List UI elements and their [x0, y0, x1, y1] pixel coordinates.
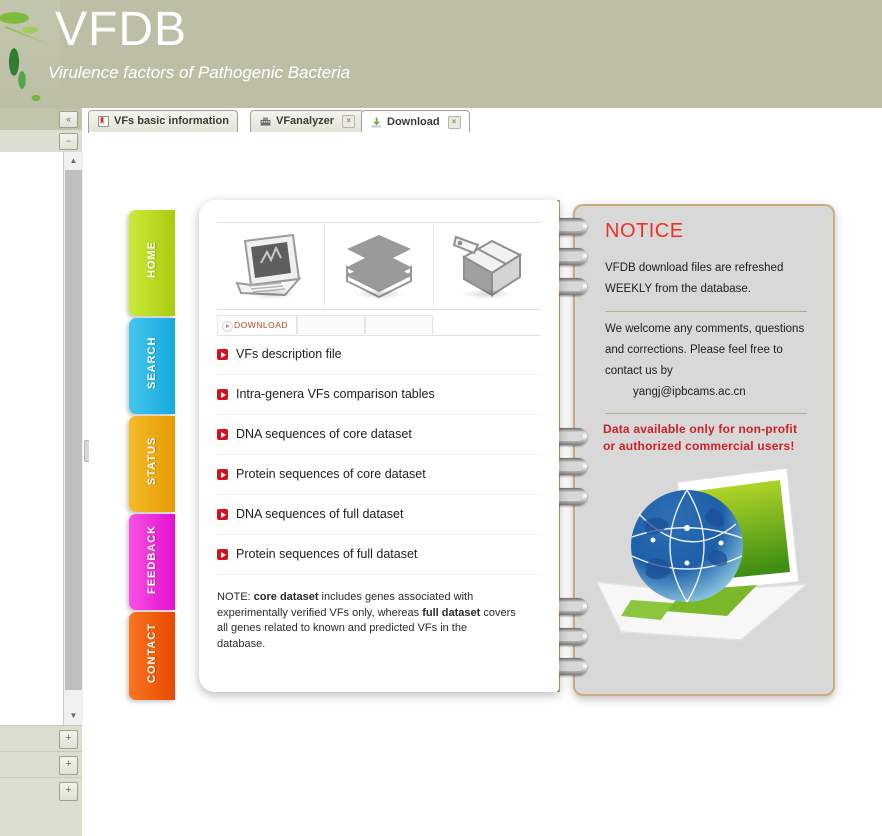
- sidebar-item-status[interactable]: STATUS: [129, 416, 175, 512]
- sidebar-item-label: CONTACT: [129, 612, 175, 700]
- tab-label: VFs basic information: [114, 111, 229, 132]
- sidebar-item-search[interactable]: SEARCH: [129, 318, 175, 414]
- notice-paragraph-1: VFDB download files are refreshed WEEKLY…: [605, 258, 810, 300]
- main-content: HOME SEARCH STATUS FEEDBACK CONTACT NOTI…: [89, 132, 882, 735]
- icon-shadow: [245, 289, 297, 299]
- icon-shadow: [353, 289, 405, 299]
- notebook-graphic: HOME SEARCH STATUS FEEDBACK CONTACT NOTI…: [129, 200, 849, 700]
- list-item[interactable]: DNA sequences of core dataset: [217, 415, 541, 455]
- play-square-icon: [217, 509, 228, 520]
- list-item[interactable]: Intra-genera VFs comparison tables: [217, 375, 541, 415]
- expand-button[interactable]: +: [59, 782, 78, 801]
- scroll-down-arrow-icon[interactable]: ▼: [64, 707, 83, 725]
- divider: [605, 311, 807, 312]
- note-bold-full: full dataset: [422, 607, 480, 619]
- play-square-icon: [217, 389, 228, 400]
- building-icon: [259, 115, 272, 128]
- scroll-up-arrow-icon[interactable]: ▲: [64, 152, 83, 170]
- tab-vfanalyzer[interactable]: VFanalyzer ×: [250, 110, 364, 132]
- list-item-label: Protein sequences of core dataset: [236, 455, 426, 494]
- list-item[interactable]: DNA sequences of full dataset: [217, 495, 541, 535]
- sidebar-item-feedback[interactable]: FEEDBACK: [129, 514, 175, 610]
- play-square-icon: [217, 469, 228, 480]
- download-list: VFs description file Intra-genera VFs co…: [217, 335, 541, 575]
- panel-expand-row-3: +: [0, 777, 82, 836]
- feature-icon-row: [217, 222, 541, 310]
- expand-button[interactable]: +: [59, 756, 78, 775]
- icon-cell-box: [434, 223, 541, 309]
- panel-expand-row-1: +: [0, 725, 82, 752]
- minimize-button[interactable]: −: [59, 133, 78, 150]
- tab-download[interactable]: Download ×: [361, 110, 470, 133]
- list-item[interactable]: Protein sequences of core dataset: [217, 455, 541, 495]
- tab-strip: VFs basic information VFanalyzer × Downl…: [88, 110, 882, 133]
- site-banner: VFDB Virulence factors of Pathogenic Bac…: [0, 0, 882, 108]
- list-item-label: Protein sequences of full dataset: [236, 535, 417, 574]
- globe-laptop-icon: [591, 464, 817, 660]
- icon-cell-laptop: [217, 223, 325, 309]
- panel-expand-row-2: +: [0, 751, 82, 778]
- site-subtitle: Virulence factors of Pathogenic Bacteria: [48, 63, 350, 83]
- play-circle-icon: [222, 321, 233, 332]
- book-icon: [97, 115, 110, 128]
- list-item[interactable]: Protein sequences of full dataset: [217, 535, 541, 575]
- play-square-icon: [217, 429, 228, 440]
- play-square-icon: [217, 349, 228, 360]
- sidebar-item-label: SEARCH: [129, 318, 175, 414]
- subtab-label: DOWNLOAD: [234, 320, 288, 330]
- scrollbar-thumb[interactable]: [65, 170, 82, 690]
- list-item-label: Intra-genera VFs comparison tables: [236, 375, 435, 414]
- left-panel-chrome: « − ▲ ▼ + + +: [0, 108, 82, 735]
- list-item-label: DNA sequences of core dataset: [236, 415, 412, 454]
- subtab-empty-2[interactable]: [365, 315, 433, 334]
- expand-button[interactable]: +: [59, 730, 78, 749]
- tab-label: VFanalyzer: [276, 111, 334, 132]
- download-subtab-bar: DOWNLOAD: [217, 315, 541, 336]
- subtab-empty-1[interactable]: [297, 315, 365, 334]
- notice-paragraph-2: We welcome any comments, questions and c…: [605, 319, 810, 382]
- notice-title: NOTICE: [605, 220, 684, 243]
- dataset-note: NOTE: core dataset includes genes associ…: [217, 590, 517, 652]
- plant-decoration-image: [0, 0, 60, 108]
- sidebar-item-contact[interactable]: CONTACT: [129, 612, 175, 700]
- note-bold-core: core dataset: [254, 591, 319, 603]
- sidebar-item-label: HOME: [129, 210, 175, 316]
- left-panel-scrollbar[interactable]: ▲ ▼: [63, 152, 83, 725]
- list-item[interactable]: VFs description file: [217, 335, 541, 375]
- play-square-icon: [217, 549, 228, 560]
- sidebar-item-label: STATUS: [129, 416, 175, 512]
- download-arrow-icon: [370, 116, 383, 129]
- close-icon[interactable]: ×: [448, 116, 461, 129]
- list-item-label: VFs description file: [236, 335, 342, 374]
- site-title: VFDB: [55, 4, 187, 56]
- notice-page: NOTICE VFDB download files are refreshed…: [573, 204, 835, 696]
- sidebar-item-label: FEEDBACK: [129, 514, 175, 610]
- divider: [605, 413, 807, 414]
- note-prefix: NOTE:: [217, 591, 254, 603]
- minimize-bar: −: [0, 130, 82, 153]
- icon-shadow: [461, 289, 513, 299]
- collapse-bar: «: [0, 108, 82, 131]
- close-icon[interactable]: ×: [342, 115, 355, 128]
- contact-email[interactable]: yangj@ipbcams.ac.cn: [633, 382, 838, 403]
- usage-warning: Data available only for non-profit or au…: [603, 421, 813, 455]
- download-page: DOWNLOAD VFs description file Intra-gene…: [199, 200, 559, 692]
- tab-vfs-basic-information[interactable]: VFs basic information: [88, 110, 238, 132]
- collapse-button[interactable]: «: [59, 111, 78, 128]
- subtab-download[interactable]: DOWNLOAD: [217, 315, 297, 334]
- left-panel-body: [0, 152, 64, 725]
- tab-label: Download: [387, 112, 440, 133]
- icon-cell-books: [325, 223, 433, 309]
- sidebar-item-home[interactable]: HOME: [129, 210, 175, 316]
- list-item-label: DNA sequences of full dataset: [236, 495, 403, 534]
